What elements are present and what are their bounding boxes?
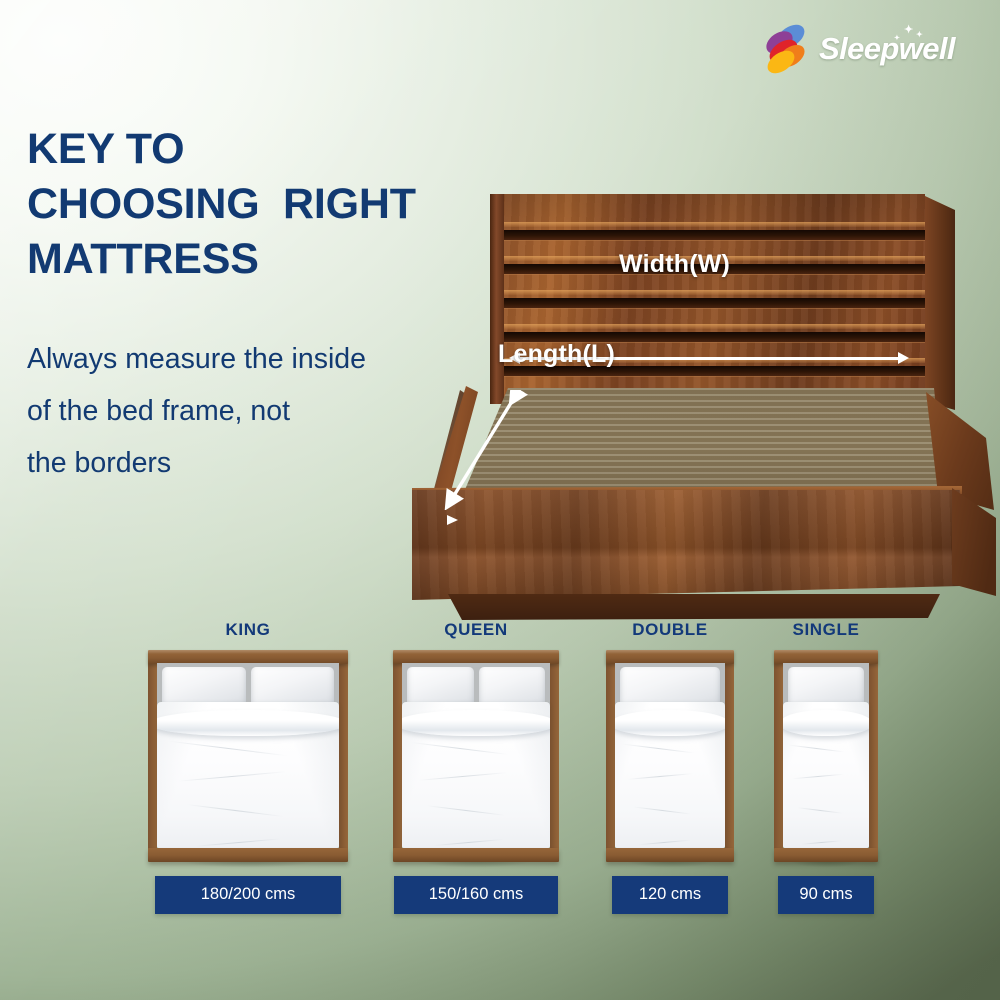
sparkle-icon: ✦ ✦ ✦ [888, 25, 928, 45]
bed-plinth [448, 594, 940, 620]
page-title-line-3: MATTRESS [27, 232, 467, 287]
page-title: KEY TO CHOOSING RIGHT MATTRESS [27, 122, 467, 287]
bed-frame-side-rail [393, 663, 402, 849]
bed-frame-side-rail [606, 663, 615, 849]
length-label: Length(L) [498, 340, 615, 369]
bed-frame-side-rail [148, 663, 157, 849]
duvet-crease [627, 773, 693, 780]
page-subtitle-line-2: of the bed frame, not [27, 385, 427, 437]
sparkle-glyph-1: ✦ [904, 26, 913, 35]
size-dimension-badge[interactable]: 180/200 cms [155, 876, 341, 914]
duvet [615, 702, 725, 848]
bed-frame-side-rail [869, 663, 878, 849]
size-dimension-badge[interactable]: 90 cms [778, 876, 874, 914]
duvet [402, 702, 550, 848]
headboard-left-post [490, 194, 504, 404]
page-title-line-1: KEY TO [27, 122, 467, 177]
size-dimension-badge[interactable]: 120 cms [612, 876, 728, 914]
duvet-crease [433, 839, 504, 846]
duvet-fold [783, 710, 869, 736]
length-arrow-icon [438, 390, 528, 510]
duvet [783, 702, 869, 848]
bed-frame-side-rail [339, 663, 348, 849]
sparkle-glyph-3: ✦ [894, 34, 900, 43]
bed-footboard-bar [774, 848, 878, 862]
duvet-crease [186, 804, 284, 817]
bed-frame-side-rail [725, 663, 734, 849]
size-dimension-badge[interactable]: 150/160 cms [394, 876, 558, 914]
hero-bed-illustration: Width(W) Length(L) [404, 190, 1000, 510]
brand-name: Sleepwell [819, 33, 955, 64]
bed-top-view [148, 650, 348, 862]
duvet-fold [157, 710, 339, 736]
bed-frame-side-rail [550, 663, 559, 849]
bed-frame-side-rail [774, 663, 783, 849]
bed-headboard-bar [393, 650, 559, 664]
page-subtitle: Always measure the inside of the bed fra… [27, 333, 427, 489]
page-subtitle-line-1: Always measure the inside [27, 333, 427, 385]
size-card-title: SINGLE [774, 620, 878, 640]
size-card-title: DOUBLE [606, 620, 734, 640]
duvet-crease [622, 744, 694, 754]
duvet-crease [797, 807, 843, 814]
duvet-crease [426, 805, 505, 816]
duvet [157, 702, 339, 848]
bed-headboard-bar [774, 650, 878, 664]
duvet-crease [195, 838, 282, 847]
duvet-fold [402, 710, 550, 736]
size-card-title: KING [148, 620, 348, 640]
bed-footboard-bar [393, 848, 559, 862]
page-title-line-2: CHOOSING RIGHT [27, 177, 467, 232]
headboard-right-return [925, 196, 955, 410]
width-label: Width(W) [619, 250, 730, 279]
duvet-crease [633, 806, 692, 814]
bed-size-comparison: KING180/200 cmsQUEEN150/160 cmsDOUBLE120… [0, 620, 1000, 920]
duvet-crease [168, 741, 287, 757]
duvet-crease [638, 840, 691, 846]
duvet-crease [801, 840, 842, 845]
page-subtitle-line-3: the borders [27, 437, 427, 489]
bed-headboard [490, 194, 925, 400]
bed-headboard-bar [606, 650, 734, 664]
front-panel-tick-icon [447, 515, 458, 525]
bed-top-view [606, 650, 734, 862]
sleepwell-s-swirl-logo-icon [762, 23, 810, 73]
sparkle-glyph-2: ✦ [916, 30, 923, 39]
duvet-crease [177, 771, 286, 782]
duvet-crease [793, 774, 844, 779]
brand-logo: Sleepwell [762, 22, 967, 74]
bed-headboard-bar [148, 650, 348, 664]
duvet-fold [615, 710, 725, 736]
bed-footboard-bar [606, 848, 734, 862]
bed-footboard-bar [148, 848, 348, 862]
duvet-crease [788, 745, 844, 753]
size-card-title: QUEEN [393, 620, 559, 640]
bed-top-view [393, 650, 559, 862]
bed-top-view [774, 650, 878, 862]
duvet-crease [411, 742, 508, 755]
duvet-crease [418, 772, 507, 781]
